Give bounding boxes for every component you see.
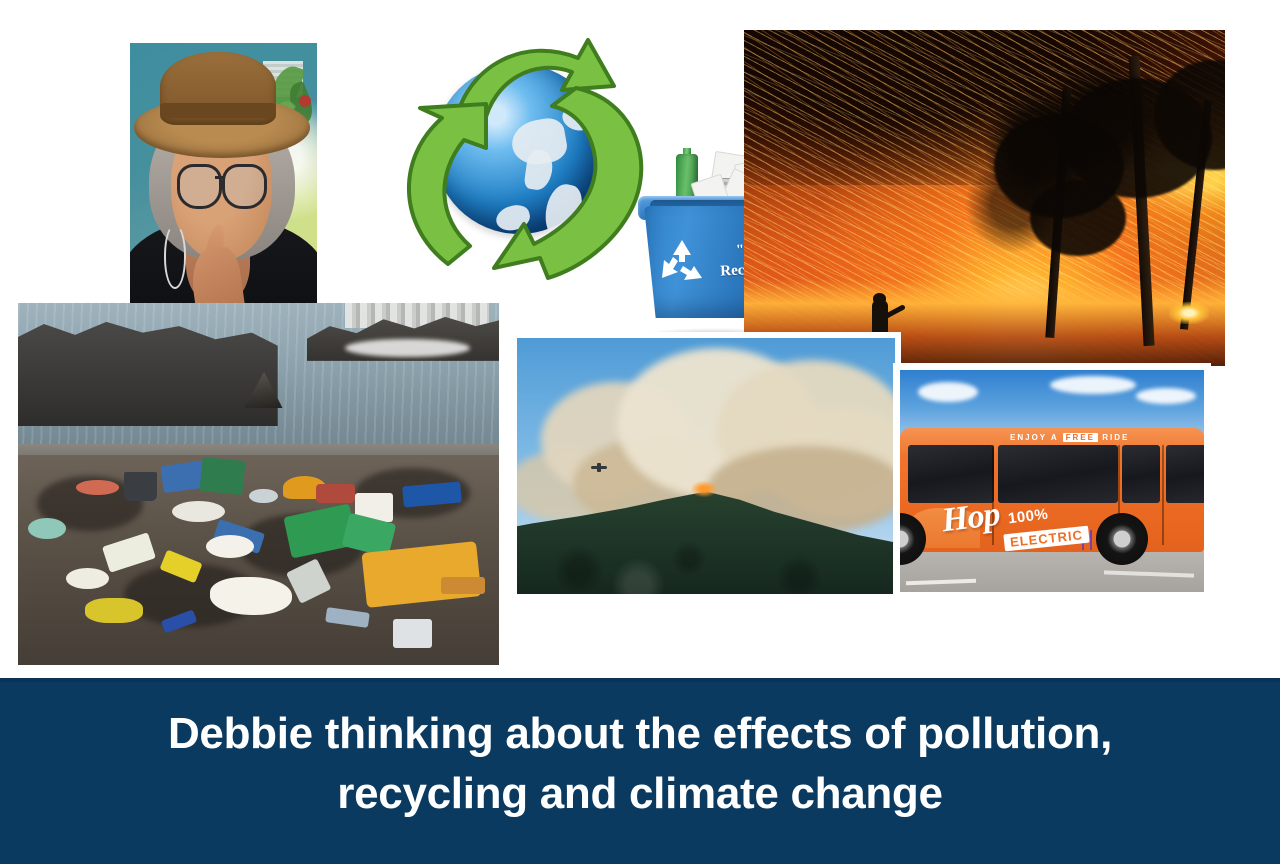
bus-roof-text-prefix: ENJOY A xyxy=(1010,433,1058,442)
bus-roof-text-suffix: RIDE xyxy=(1102,433,1129,442)
glasses-right-lens xyxy=(222,164,267,209)
cloud xyxy=(1136,388,1196,404)
photo-beach-pollution[interactable] xyxy=(18,303,499,665)
graphic-recycle-globe[interactable] xyxy=(386,30,644,292)
white-foam-piece xyxy=(102,532,156,573)
white-lid xyxy=(172,501,225,522)
bus-window xyxy=(998,445,1118,503)
graphic-tree xyxy=(1090,530,1092,550)
flame-on-ridge xyxy=(691,481,717,497)
teal-net-fragment xyxy=(28,518,66,539)
grey-canister xyxy=(393,619,431,648)
bus-brand-hop: Hop xyxy=(940,495,1002,540)
dark-cup xyxy=(124,472,158,501)
photo-electric-bus[interactable]: ENJOY A FREE RIDE Hop 100% ELECTRIC xyxy=(893,363,1211,599)
glasses-bridge xyxy=(215,176,224,179)
recycle-arrow-right-icon xyxy=(490,82,644,292)
white-debris xyxy=(66,568,109,589)
recycle-symbol-icon xyxy=(658,238,706,284)
caption-text: Debbie thinking about the effects of pol… xyxy=(0,704,1280,824)
bus-roof-text-chip: FREE xyxy=(1063,433,1098,442)
slide-canvas: "We Recycle!" xyxy=(0,0,1280,864)
caption-line-1: Debbie thinking about the effects of pol… xyxy=(168,709,1112,758)
electric-bus-image: ENJOY A FREE RIDE Hop 100% ELECTRIC xyxy=(900,370,1204,592)
caption-band: Debbie thinking about the effects of pol… xyxy=(0,678,1280,864)
photo-wildfire[interactable] xyxy=(744,30,1225,366)
styrofoam-chunk xyxy=(210,577,292,615)
straw-hat-band xyxy=(160,103,276,118)
orange-debris xyxy=(76,480,119,495)
white-fragment xyxy=(249,489,278,504)
cloud xyxy=(1050,376,1136,394)
bus-window xyxy=(908,445,994,503)
green-plastic-bottle xyxy=(199,457,246,495)
flower xyxy=(299,95,311,107)
orange-fragment xyxy=(441,577,484,594)
plastic-fragment xyxy=(325,607,370,628)
parking-lot xyxy=(900,548,1204,592)
earring xyxy=(164,224,187,288)
branches xyxy=(744,30,1225,366)
orange-plastic-crate xyxy=(362,542,483,608)
portrait-image xyxy=(130,43,317,345)
band-top-hairline xyxy=(0,678,1280,682)
bus-door-seam xyxy=(1162,445,1164,545)
cloud xyxy=(918,382,978,402)
smoke-plume-image xyxy=(517,338,895,594)
bus-wheel xyxy=(1096,513,1148,565)
debris-field xyxy=(18,455,499,665)
photo-smoke-plume[interactable] xyxy=(511,332,901,600)
firefighting-plane xyxy=(591,466,607,469)
red-debris xyxy=(316,484,354,503)
bus-window xyxy=(1122,445,1160,503)
white-plastic-bottle xyxy=(206,535,254,558)
bus-roof-text: ENJOY A FREE RIDE xyxy=(1010,433,1129,442)
yellow-rope xyxy=(85,598,143,623)
glasses-left-lens xyxy=(177,164,222,209)
bus-window xyxy=(1166,445,1204,503)
caption-line-2: recycling and climate change xyxy=(337,769,942,818)
flame-flare xyxy=(1169,302,1209,324)
